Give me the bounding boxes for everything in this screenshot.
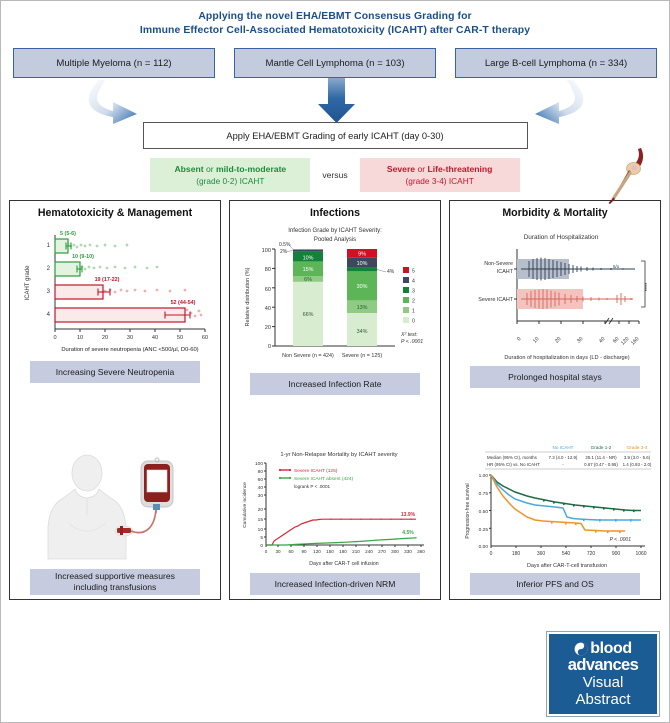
svg-text:1060: 1060 xyxy=(635,551,646,557)
svg-text:66%: 66% xyxy=(303,312,314,318)
svg-text:40: 40 xyxy=(152,335,158,341)
panel2-label-top: Increased Infection Rate xyxy=(250,373,420,395)
svg-text:X² test:: X² test: xyxy=(400,332,418,338)
svg-text:P < .0001: P < .0001 xyxy=(401,339,423,345)
svg-text:Median (95% CI), months: Median (95% CI), months xyxy=(487,455,538,460)
panel-title: Hematotoxicity & Management xyxy=(38,207,192,219)
title-line-2: Immune Effector Cell-Associated Hematoto… xyxy=(31,24,639,38)
bar-non-severe: 66% 6% 15% 10% xyxy=(293,249,323,346)
svg-text:210: 210 xyxy=(352,549,360,554)
svg-text:160: 160 xyxy=(630,336,640,346)
svg-text:Severe ICAHT absent (424): Severe ICAHT absent (424) xyxy=(294,476,354,482)
grade-left-bold1: Absent xyxy=(174,164,203,174)
svg-text:10%: 10% xyxy=(357,261,368,267)
logo-line-2: advances xyxy=(568,657,638,674)
svg-text:240: 240 xyxy=(365,549,373,554)
infection-title-2: Pooled Analysis xyxy=(314,237,356,243)
svg-text:5: 5 xyxy=(412,269,415,275)
svg-text:Severe ICAHT (125): Severe ICAHT (125) xyxy=(294,468,338,474)
svg-text:3.9 (3.0 - 5.6): 3.9 (3.0 - 5.6) xyxy=(624,455,651,460)
svg-text:Grade 1-2: Grade 1-2 xyxy=(591,445,612,450)
cohort-box-mantle-cell-lymphoma: Mantle Cell Lymphoma (n = 103) xyxy=(234,48,436,78)
svg-text:Duration of hospitalization in: Duration of hospitalization in days (LD … xyxy=(504,355,629,361)
panel3-label-top: Prolonged hospital stays xyxy=(470,366,640,388)
svg-text:Non-Severe: Non-Severe xyxy=(484,261,513,267)
svg-text:100: 100 xyxy=(262,248,271,254)
svg-text:25.1 (11.4 - NR): 25.1 (11.4 - NR) xyxy=(585,455,617,460)
cohort-label: Mantle Cell Lymphoma (n = 103) xyxy=(265,58,404,69)
svg-text:10: 10 xyxy=(77,335,83,341)
apply-grading-box: Apply EHA/EBMT Grading of early ICAHT (d… xyxy=(143,122,528,149)
arrow-center-down xyxy=(318,78,355,123)
svg-text:4.5%: 4.5% xyxy=(402,530,414,536)
svg-text:0: 0 xyxy=(412,319,415,325)
title-line-1: Applying the novel EHA/EBMT Consensus Gr… xyxy=(31,10,639,24)
svg-text:180: 180 xyxy=(339,549,347,554)
svg-text:Days after CAR-T cell infusion: Days after CAR-T cell infusion xyxy=(309,561,378,567)
svg-text:20: 20 xyxy=(554,336,562,344)
svg-text:90: 90 xyxy=(301,549,307,554)
svg-text:300: 300 xyxy=(391,549,399,554)
panel-infections: Infections Infection Grade by ICAHT Seve… xyxy=(229,200,441,600)
svg-text:30%: 30% xyxy=(357,284,368,290)
svg-text:0: 0 xyxy=(490,551,493,557)
svg-text:4: 4 xyxy=(412,279,415,285)
svg-text:0: 0 xyxy=(260,543,263,549)
svg-text:20: 20 xyxy=(265,325,271,331)
svg-text:5: 5 xyxy=(260,535,263,541)
blood-drop-icon xyxy=(574,642,588,656)
svg-text:52 (44-54): 52 (44-54) xyxy=(171,300,196,306)
cohort-label: Multiple Myeloma (n = 112) xyxy=(56,58,171,69)
grade-right-mid: or xyxy=(415,164,427,174)
svg-text:19 (17-22): 19 (17-22) xyxy=(95,277,120,283)
logo-text-blood: blood xyxy=(590,640,632,657)
svg-text:2: 2 xyxy=(47,266,51,272)
svg-text:10: 10 xyxy=(258,527,264,533)
apply-grading-label: Apply EHA/EBMT Grading of early ICAHT (d… xyxy=(226,131,443,141)
cohort-row: Multiple Myeloma (n = 112) Mantle Cell L… xyxy=(1,44,669,78)
blood-advances-logo: blood advances Visual Abstract xyxy=(547,632,659,716)
grade-box-right-line1: Severe or Life-threatening xyxy=(387,163,493,175)
neutropenia-chart: 0 10 20 30 40 50 60 1 2 3 4 xyxy=(14,221,216,361)
panels-row: Hematotoxicity & Management 0 10 20 30 4… xyxy=(1,192,669,600)
svg-text:ICAHT: ICAHT xyxy=(497,269,514,275)
svg-text:0.00: 0.00 xyxy=(479,544,489,550)
svg-text:40: 40 xyxy=(598,336,606,344)
svg-text:360: 360 xyxy=(537,551,546,557)
svg-text:10 (9-10): 10 (9-10) xyxy=(72,254,94,260)
svg-text:3: 3 xyxy=(412,289,415,295)
cohort-box-multiple-myeloma: Multiple Myeloma (n = 112) xyxy=(13,48,215,78)
infection-grade-chart: Infection Grade by ICAHT Severity: Poole… xyxy=(234,221,436,373)
cohort-label: Large B-cell Lymphoma (n = 334) xyxy=(485,58,627,69)
infection-title-1: Infection Grade by ICAHT Severity: xyxy=(288,228,382,234)
grade-box-left-line1: Absent or mild-to-moderate xyxy=(174,163,286,175)
svg-text:20: 20 xyxy=(102,335,108,341)
nrm-legend: Severe ICAHT (125) Severe ICAHT absent (… xyxy=(279,468,354,489)
svg-text:20: 20 xyxy=(258,507,264,513)
svg-text:180: 180 xyxy=(512,551,521,557)
svg-text:0.25: 0.25 xyxy=(479,527,489,533)
svg-text:30: 30 xyxy=(576,336,584,344)
svg-text:80: 80 xyxy=(265,267,271,273)
panel2-label-bottom: Increased Infection-driven NRM xyxy=(250,573,420,595)
svg-text:3: 3 xyxy=(47,289,51,295)
page-title: Applying the novel EHA/EBMT Consensus Gr… xyxy=(1,1,669,44)
svg-text:60: 60 xyxy=(258,477,264,483)
svg-text:Non Severe (n = 424): Non Severe (n = 424) xyxy=(282,353,334,359)
svg-text:logrank P < .0001: logrank P < .0001 xyxy=(294,484,330,489)
panel-morbidity-mortality: Morbidity & Mortality Duration of Hospit… xyxy=(449,200,661,600)
svg-text:150: 150 xyxy=(326,549,334,554)
svg-text:40: 40 xyxy=(258,485,264,491)
svg-text:ICAHT grade: ICAHT grade xyxy=(25,265,31,301)
svg-text:1-yr Non-Relapse Mortality by: 1-yr Non-Relapse Mortality by ICAHT seve… xyxy=(280,452,397,458)
visual-abstract-page: Applying the novel EHA/EBMT Consensus Gr… xyxy=(0,0,670,723)
versus-row: Absent or mild-to-moderate (grade 0-2) I… xyxy=(1,158,669,192)
grade-left-mid: or xyxy=(204,164,216,174)
svg-text:900: 900 xyxy=(612,551,621,557)
flow-arrows xyxy=(1,78,669,124)
svg-text:Progression-free survival: Progression-free survival xyxy=(465,483,471,538)
svg-text:10%: 10% xyxy=(303,256,314,262)
svg-text:5/x: 5/x xyxy=(613,264,620,269)
infection-legend: 5 4 3 2 1 0 xyxy=(403,267,415,325)
svg-text:0.50: 0.50 xyxy=(479,509,489,515)
panel1-label-bottom: Increased supportive measures including … xyxy=(30,569,200,595)
svg-text:9%: 9% xyxy=(358,252,366,258)
logo-line-3: Visual xyxy=(583,674,624,691)
svg-text:0: 0 xyxy=(265,549,268,554)
svg-text:270: 270 xyxy=(378,549,386,554)
svg-text:15%: 15% xyxy=(303,267,314,273)
svg-text:6%: 6% xyxy=(304,277,312,283)
svg-text:34%: 34% xyxy=(357,329,368,335)
blood-transfusion-illustration xyxy=(25,451,205,569)
grade-right-bold2: Life-threatening xyxy=(428,164,493,174)
svg-text:Duration of severe neutropenia: Duration of severe neutropenia (ANC <500… xyxy=(61,347,198,353)
svg-text:P < .0001: P < .0001 xyxy=(610,537,632,543)
svg-text:30: 30 xyxy=(258,493,264,499)
svg-text:540: 540 xyxy=(562,551,571,557)
panel3-label-bottom: Inferior PFS and OS xyxy=(470,573,640,595)
grade-box-right-line2: (grade 3-4) ICAHT xyxy=(406,175,474,187)
svg-text:Severe ICAHT: Severe ICAHT xyxy=(478,297,513,303)
arrow-right-curve xyxy=(535,80,583,124)
svg-text:30: 30 xyxy=(127,335,133,341)
grade-box-left-line2: (grade 0-2) ICAHT xyxy=(196,175,264,187)
svg-text:1.4 (0.93 - 2.0): 1.4 (0.93 - 2.0) xyxy=(623,462,652,467)
svg-text:7.3 (4.0 - 12.9): 7.3 (4.0 - 12.9) xyxy=(549,455,578,460)
svg-text:13.9%: 13.9% xyxy=(401,512,416,518)
svg-text:0.67 (0.47 - 0.95): 0.67 (0.47 - 0.95) xyxy=(584,462,618,467)
svg-text:Duration of Hospitalization: Duration of Hospitalization xyxy=(524,234,599,241)
nrm-chart: 1-yr Non-Relapse Mortality by ICAHT seve… xyxy=(234,445,436,573)
svg-text:330: 330 xyxy=(404,549,412,554)
svg-text:1.00: 1.00 xyxy=(479,473,489,479)
svg-text:1: 1 xyxy=(47,243,51,249)
svg-text:720: 720 xyxy=(587,551,596,557)
svg-text:-: - xyxy=(562,462,564,467)
grading-box-wrap: Apply EHA/EBMT Grading of early ICAHT (d… xyxy=(1,122,669,149)
svg-text:120: 120 xyxy=(313,549,321,554)
panel-title: Morbidity & Mortality xyxy=(502,207,607,219)
grade-box-absent-mild: Absent or mild-to-moderate (grade 0-2) I… xyxy=(150,158,310,192)
cohort-box-large-b-cell-lymphoma: Large B-cell Lymphoma (n = 334) xyxy=(455,48,657,78)
svg-text:4: 4 xyxy=(47,312,51,318)
svg-text:0: 0 xyxy=(53,335,56,341)
svg-text:No ICAHT: No ICAHT xyxy=(553,445,574,450)
svg-text:60: 60 xyxy=(612,336,620,344)
svg-text:2: 2 xyxy=(412,299,415,305)
svg-text:4%: 4% xyxy=(387,269,395,275)
svg-text:120: 120 xyxy=(620,336,630,346)
svg-text:****: **** xyxy=(645,282,651,291)
svg-text:100: 100 xyxy=(255,461,263,467)
svg-text:15: 15 xyxy=(258,517,264,523)
logo-line-4: Abstract xyxy=(575,691,630,708)
svg-text:60: 60 xyxy=(265,287,271,293)
bone-marrow-needle-icon xyxy=(605,146,651,204)
svg-text:0: 0 xyxy=(516,336,522,342)
svg-text:40: 40 xyxy=(265,306,271,312)
hospitalization-chart: Duration of Hospitalization Non-Severe I… xyxy=(454,221,656,366)
panel-title: Infections xyxy=(310,207,360,219)
svg-text:13%: 13% xyxy=(357,305,368,311)
svg-text:HR (95% CI) vs. No ICAHT: HR (95% CI) vs. No ICAHT xyxy=(487,462,540,467)
arrow-left-curve xyxy=(89,80,137,124)
svg-text:Grade 3-4: Grade 3-4 xyxy=(627,445,648,450)
panel-hematotoxicity-management: Hematotoxicity & Management 0 10 20 30 4… xyxy=(9,200,221,600)
svg-text:5 (5-6): 5 (5-6) xyxy=(60,231,76,237)
svg-text:60: 60 xyxy=(202,335,208,341)
svg-text:50: 50 xyxy=(177,335,183,341)
versus-label: versus xyxy=(322,170,347,180)
pfs-chart: No ICAHT Grade 1-2 Grade 3-4 Median (95%… xyxy=(454,441,656,573)
svg-text:0.75: 0.75 xyxy=(479,491,489,497)
grade-right-bold1: Severe xyxy=(387,164,415,174)
svg-text:30: 30 xyxy=(275,549,281,554)
svg-text:Cumulative incidence: Cumulative incidence xyxy=(242,482,248,528)
svg-text:10: 10 xyxy=(532,336,540,344)
svg-text:1: 1 xyxy=(412,309,415,315)
panel1-label-top: Increasing Severe Neutropenia xyxy=(30,361,200,383)
svg-text:2%: 2% xyxy=(280,249,288,255)
svg-text:60: 60 xyxy=(288,549,294,554)
svg-text:360: 360 xyxy=(417,549,425,554)
grade-left-bold2: mild-to-moderate xyxy=(216,164,286,174)
svg-text:80: 80 xyxy=(258,469,264,475)
logo-line-1: blood xyxy=(574,640,632,657)
bar-severe: 34% 13% 30% 10% 9% xyxy=(347,249,377,346)
grade-box-severe-life-threatening: Severe or Life-threatening (grade 3-4) I… xyxy=(360,158,520,192)
svg-text:0: 0 xyxy=(268,344,271,350)
svg-text:Days after CAR-T-cell transfus: Days after CAR-T-cell transfusion xyxy=(527,563,607,569)
pfs-summary-table: No ICAHT Grade 1-2 Grade 3-4 Median (95%… xyxy=(485,445,652,469)
svg-text:Severe (n = 125): Severe (n = 125) xyxy=(342,353,383,359)
svg-text:Relative distribution (%): Relative distribution (%) xyxy=(245,267,251,326)
